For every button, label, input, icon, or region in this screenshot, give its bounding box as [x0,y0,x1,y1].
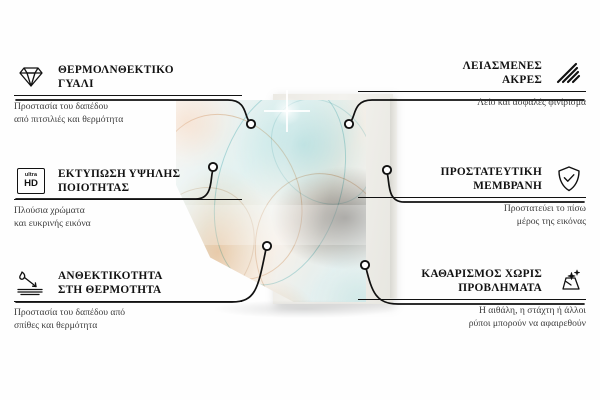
feature-protective-membrane: ΠΡΟΣΤΑΤΕΥΤΙΚΗ ΜΕΜΒΡΑΝΗ Προστατεύει το πί… [358,164,586,228]
feature-subtitle: Λείο και ασφαλές φινίρισμα [358,97,586,109]
feature-title: ΑΝΘΕΚΤΙΚΟΤΗΤΑ ΣΤΗ ΘΕΡΜΟΤΗΤΑ [58,269,163,298]
feature-divider [14,199,242,200]
feature-title: ΘΕΡΜΟΛΝΘΕΚΤΙΚΟ ΓΥΑΛΙ [58,63,174,92]
feature-divider [14,95,242,96]
easy-cleaning-sparkle-icon [552,266,586,296]
feature-title: ΛΕΙΑΣΜΕΝΕΣ ΑΚΡΕΣ [463,59,542,88]
feature-title: ΕΚΤΥΠΩΣΗ ΥΨΗΛΗΣ ΠΟΙΟΤΗΤΑΣ [58,167,180,196]
diamond-icon [14,62,48,92]
feature-subtitle: Προστασία του δαπέδου από πιτσιλιές και … [14,101,242,126]
feature-divider [358,91,586,92]
feature-smooth-edges: ΛΕΙΑΣΜΕΝΕΣ ΑΚΡΕΣ Λείο και ασφαλές φινίρι… [358,58,586,110]
hd-label: HD [24,179,38,189]
feature-heat-resistant-glass: ΘΕΡΜΟΛΝΘΕΚΤΙΚΟ ΓΥΑΛΙ Προστασία του δαπέδ… [14,62,242,126]
ultra-hd-icon: ultra HD [14,166,48,196]
feature-heat-durability: ΑΝΘΕΚΤΙΚΟΤΗΤΑ ΣΤΗ ΘΕΡΜΟΤΗΤΑ Προστασία το… [14,268,242,332]
feature-subtitle: Προστατεύει το πίσω μέρος της εικόνας [358,203,586,228]
feature-subtitle: Προστασία του δαπέδου από σπίθες και θερ… [14,307,242,332]
feature-title: ΚΑΘΑΡΙΣΜΟΣ ΧΩΡΙΣ ΠΡΟΒΛΗΜΑΤΑ [421,267,542,296]
feature-subtitle: Η αιθάλη, η στάχτη ή άλλοι ρύποι μπορούν… [358,305,586,330]
feature-divider [14,301,242,302]
flame-heat-resistance-icon [14,268,48,298]
feature-subtitle: Πλούσια χρώματα και ευκρινής εικόνα [14,205,242,230]
shield-check-icon [552,164,586,194]
feature-divider [358,299,586,300]
smooth-edges-icon [552,58,586,88]
feature-title: ΠΡΟΣΤΑΤΕΥΤΙΚΗ ΜΕΜΒΡΑΝΗ [441,165,542,194]
infographic-canvas: ΘΕΡΜΟΛΝΘΕΚΤΙΚΟ ΓΥΑΛΙ Προστασία του δαπέδ… [0,0,600,400]
feature-divider [358,197,586,198]
feature-easy-cleaning: ΚΑΘΑΡΙΣΜΟΣ ΧΩΡΙΣ ΠΡΟΒΛΗΜΑΤΑ Η αιθάλη, η … [358,266,586,330]
feature-high-quality-print: ultra HD ΕΚΤΥΠΩΣΗ ΥΨΗΛΗΣ ΠΟΙΟΤΗΤΑΣ Πλούσ… [14,166,242,230]
